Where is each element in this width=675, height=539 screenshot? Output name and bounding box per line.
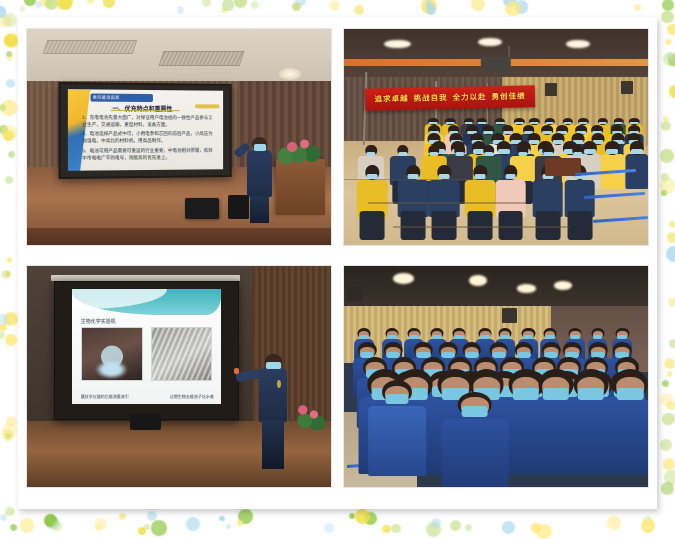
ceiling-vent-icon <box>43 40 138 54</box>
decorative-dot <box>329 0 340 11</box>
decorative-dot <box>668 55 675 66</box>
decorative-dot <box>662 0 674 11</box>
decorative-dot <box>151 520 166 535</box>
decorative-dot <box>35 1 42 8</box>
ceiling-light-icon <box>279 68 301 80</box>
decorative-dot <box>426 522 442 538</box>
decorative-dot <box>531 523 541 533</box>
photo-top-left: 乘风破浪起航 一、优充特点和重要性 1、充电电池先量大面广，对保证用户电池组的一… <box>27 29 331 245</box>
photo-bottom-left: 生物化学实验机 膜技学仪器的后能测量流引 过期生物去能流子化水难 <box>27 266 331 487</box>
presentation-slide: 乘风破浪起航 一、优充特点和重要性 1、充电电池先量大面广，对保证用户电池组的一… <box>68 90 224 171</box>
decorative-dot <box>1 270 10 279</box>
decorative-dot <box>431 518 441 528</box>
photo-grid: 乘风破浪起航 一、优充特点和重要性 1、充电电池先量大面广，对保证用户电池组的一… <box>27 29 648 499</box>
decorative-dot <box>660 178 675 193</box>
slide-paragraph-2: 2、电池选择产品式中可，小用电参和芯回的前后产品，小高压为加强电，中高比的材料机… <box>83 130 214 144</box>
decorative-dot <box>364 512 377 525</box>
decorative-dot <box>663 52 675 66</box>
stage-monitor-speaker <box>130 414 160 429</box>
decorative-dot <box>667 232 675 243</box>
decorative-dot <box>666 246 675 262</box>
slide-image-caption-left: 膜技学仪器的后能测量流引 <box>81 394 129 400</box>
decorative-dot <box>6 314 16 324</box>
decorative-dot <box>666 401 675 410</box>
decorative-dot <box>46 516 60 530</box>
decorative-dot <box>425 0 433 8</box>
decorative-dot <box>664 358 675 369</box>
flower-arrangement <box>276 135 322 165</box>
slide-sample-image-right <box>151 327 213 381</box>
uniform-badge-icon <box>277 380 281 388</box>
decorative-dot <box>2 423 17 438</box>
photo-collage-card: 乘风破浪起航 一、优充特点和重要性 1、充电电池先量大面广，对保证用户电池组的一… <box>18 17 657 509</box>
slide-header-label: 乘风破浪起航 <box>93 95 120 101</box>
decorative-dot <box>515 0 528 13</box>
decorative-dot <box>667 24 675 36</box>
decorative-dot <box>3 130 14 141</box>
decorative-dot <box>641 519 655 533</box>
decorative-dot <box>0 331 5 338</box>
decorative-dot <box>144 524 150 530</box>
projection-screen: 生物化学实验机 膜技学仪器的后能测量流引 过期生物去能流子化水难 <box>54 281 238 420</box>
audience-member <box>625 141 648 189</box>
projector-icon <box>481 57 511 72</box>
decorative-dot <box>0 125 8 134</box>
decorative-dot <box>8 151 15 158</box>
decorative-dot <box>292 2 301 11</box>
decorative-dot <box>24 0 36 6</box>
decorative-dot <box>505 1 520 16</box>
slide-paragraph-3: 3、电池可用产品需要可重运的行业重要，中电池相对原理，低效中市电电广平的电号，则… <box>83 147 214 162</box>
wall-speaker-icon <box>545 83 557 96</box>
decorative-dot <box>20 6 25 11</box>
decorative-dot <box>138 527 146 535</box>
decorative-dot <box>4 33 19 48</box>
decorative-dot <box>221 8 226 13</box>
ceiling-light-icon <box>517 284 535 293</box>
decorative-dot <box>237 520 243 526</box>
decorative-dot <box>95 524 102 531</box>
slide-title: 一、优充特点和重要性 <box>113 104 173 113</box>
decorative-dot <box>7 54 14 61</box>
decorative-dot <box>186 517 200 531</box>
slide-image-caption-right: 过期生物去能流子化水难 <box>170 394 214 400</box>
wall-speaker-icon <box>621 81 633 94</box>
decorative-dot <box>503 0 517 7</box>
decorative-dot <box>234 0 247 8</box>
decorative-dot <box>664 470 675 485</box>
decorative-dot <box>661 482 674 495</box>
decorative-dot <box>147 511 157 521</box>
decorative-dot <box>177 6 185 14</box>
decorative-dot <box>226 524 231 529</box>
decorative-dot <box>450 520 461 531</box>
decorative-dot <box>4 312 17 325</box>
worker-crowd <box>344 328 648 487</box>
decorative-dot <box>4 34 17 47</box>
decorative-dot <box>669 339 675 347</box>
decorative-dot <box>465 524 472 531</box>
decorative-dot <box>354 5 364 15</box>
decorative-dot <box>222 0 233 11</box>
flower-arrangement <box>288 399 324 430</box>
decorative-dot <box>10 524 17 531</box>
decorative-dot <box>669 85 675 97</box>
banner-segment-4: 勇创佳绩 <box>492 91 526 103</box>
decorative-dot <box>0 514 7 521</box>
decorative-dot <box>7 257 13 263</box>
decorative-dot <box>669 221 675 228</box>
decorative-dot <box>5 271 12 278</box>
decorative-dot <box>3 13 17 27</box>
decorative-dot <box>2 429 14 441</box>
decorative-dot <box>661 11 673 23</box>
decorative-dot <box>238 509 253 524</box>
decorative-dot <box>57 0 71 10</box>
decorative-dot <box>355 509 370 524</box>
presentation-slide: 生物化学实验机 膜技学仪器的后能测量流引 过期生物去能流子化水难 <box>72 289 222 404</box>
ceiling <box>344 266 648 306</box>
wall-speaker-icon <box>502 308 517 323</box>
decorative-dot <box>382 525 390 533</box>
decorative-dot <box>20 518 35 533</box>
decorative-dot <box>471 0 485 11</box>
decorative-dot <box>668 297 675 307</box>
decorative-dot <box>87 0 94 4</box>
stage-front-edge <box>27 228 331 245</box>
decorative-dot <box>40 0 52 7</box>
photo-top-right: 追求卓越 挑战自我 全力以赴 勇创佳绩 <box>344 29 648 245</box>
decorative-dot <box>119 513 127 521</box>
decorative-dot <box>6 79 15 88</box>
decorative-dot <box>661 121 672 132</box>
stage-monitor-speaker <box>185 198 218 220</box>
audience-member <box>601 141 624 189</box>
slide-paragraph-1: 1、充电电池先量大面广，对保证用户电池组的一致性产品参与工业生产，交通运输，重型… <box>83 113 214 128</box>
decorative-dot <box>103 0 116 8</box>
decorative-dot <box>6 416 17 427</box>
decorative-dot <box>251 1 259 9</box>
face-mask-icon <box>266 362 281 369</box>
decorative-dot <box>660 393 673 406</box>
laser-pointer-icon <box>234 368 239 374</box>
decorative-dot <box>349 513 355 519</box>
decorative-dot <box>666 52 675 61</box>
ceiling-light-icon <box>469 275 487 286</box>
decorative-dot <box>670 53 675 61</box>
ceiling-vent-icon <box>158 51 244 66</box>
decorative-dot <box>643 516 653 526</box>
decorative-dot <box>0 314 9 326</box>
podium <box>276 159 325 215</box>
decorative-dot <box>1 100 17 116</box>
decorative-dot <box>0 104 6 111</box>
face-mask-icon <box>254 144 266 151</box>
decorative-dot <box>6 51 12 57</box>
decorative-dot <box>0 6 6 17</box>
projection-screen: 乘风破浪起航 一、优充特点和重要性 1、充电电池先量大面广，对保证用户电池组的一… <box>59 82 232 179</box>
ceiling-light-icon <box>393 273 414 284</box>
banner-segment-1: 追求卓越 <box>375 93 409 105</box>
decorative-dot <box>5 507 15 517</box>
decorative-dot <box>219 516 224 521</box>
presenter-figure <box>246 137 273 223</box>
decorative-dot <box>95 518 107 530</box>
decorative-dot <box>667 371 672 376</box>
decorative-dot <box>663 116 669 122</box>
decorative-dot <box>663 458 675 471</box>
decorative-dot <box>661 173 669 181</box>
red-slogan-banner: 追求卓越 挑战自我 全力以赴 勇创佳绩 <box>365 86 536 111</box>
decorative-dot <box>661 190 667 196</box>
slide-corner-tag <box>195 104 219 108</box>
decorative-dot <box>52 521 62 531</box>
decorative-dot <box>295 0 306 6</box>
seated-worker <box>604 369 648 471</box>
decorative-dot <box>59 0 73 9</box>
decorative-dot <box>660 149 674 163</box>
decorative-dot <box>634 4 641 11</box>
banner-segment-2: 挑战自我 <box>414 93 448 105</box>
decorative-dot <box>665 39 672 46</box>
seated-worker-foreground <box>368 380 426 472</box>
slide-sample-image-left <box>81 327 143 381</box>
decorative-dot <box>44 514 57 527</box>
photo-bottom-right <box>344 266 648 487</box>
decorative-dot <box>0 15 12 28</box>
decorative-dot <box>5 176 13 184</box>
decorative-dot <box>0 324 7 332</box>
decorative-dot <box>662 413 675 426</box>
decorative-dot <box>5 433 11 439</box>
decorative-dot <box>324 523 334 533</box>
decorative-dot <box>1 125 17 141</box>
seated-worker-foreground <box>441 392 508 487</box>
decorative-dot <box>426 4 436 14</box>
wall-speaker-icon <box>347 286 362 301</box>
decorative-dot <box>662 380 669 387</box>
decorative-dot <box>607 516 621 530</box>
decorative-dot <box>5 334 17 346</box>
presenter-figure <box>258 354 288 469</box>
banner-segment-3: 全力以赴 <box>453 92 487 104</box>
decorative-dot <box>660 439 672 451</box>
decorative-dot <box>45 0 59 10</box>
decorative-dot <box>202 0 211 7</box>
slide-heading: 生物化学实验机 <box>81 318 116 325</box>
screen-roller <box>51 275 239 282</box>
decorative-dot <box>421 0 437 14</box>
